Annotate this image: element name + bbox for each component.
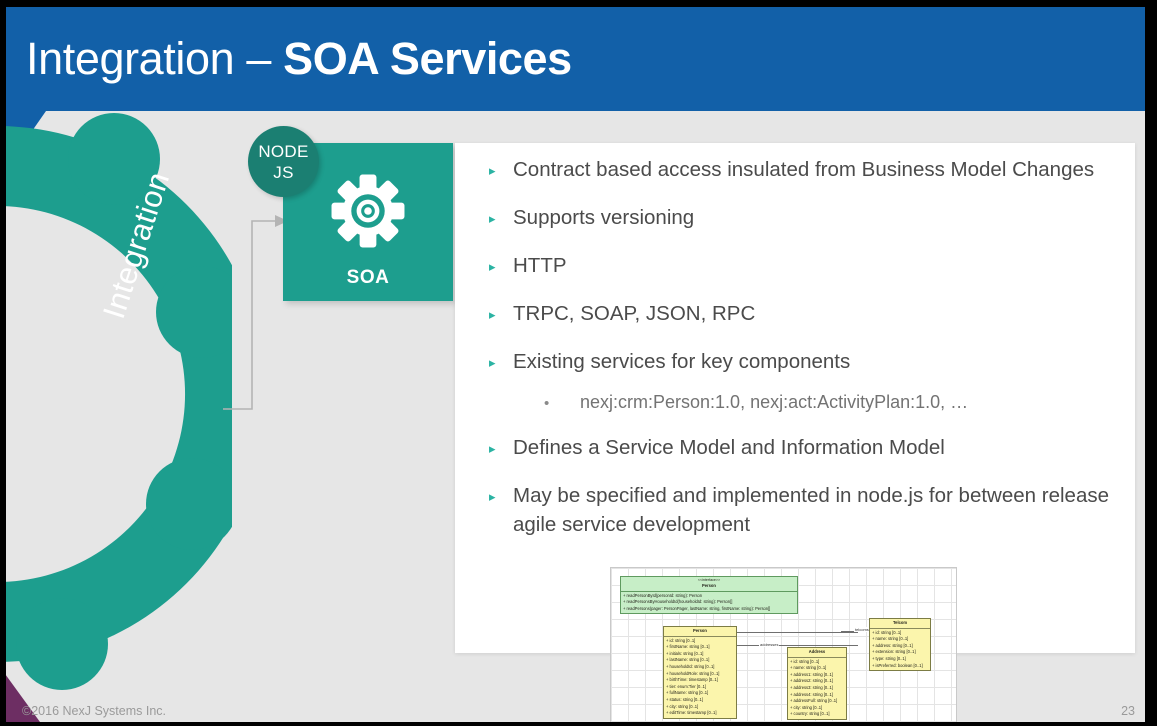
- uml-attribute: + address4: string [0..1]: [790, 692, 845, 699]
- uml-link-label-addresses: addresses: [759, 642, 779, 647]
- page-title-prefix: Integration –: [26, 33, 283, 84]
- uml-class-telcom: Telcom + id: string [0..1]+ name: string…: [869, 618, 931, 671]
- bullet-triangle-icon: ▸: [489, 299, 513, 329]
- integration-ring-graphic: [0, 84, 232, 704]
- uml-operation: + readPersonsByHouseholdId(householdId: …: [623, 599, 796, 606]
- uml-class-person: Person + id: string [0..1]+ firstName: s…: [663, 626, 737, 719]
- frame-left: [0, 0, 6, 726]
- corner-triangle-blue: [0, 111, 46, 177]
- uml-attribute: + address2: string [0..1]: [790, 678, 845, 685]
- node-js-badge[interactable]: NODE JS: [248, 126, 319, 197]
- bullet-text: TRPC, SOAP, JSON, RPC: [513, 299, 1109, 328]
- uml-attribute: + lastName: string [0..1]: [666, 657, 735, 664]
- uml-attribute: + city: string [0..1]: [790, 705, 845, 712]
- page-number: 23: [1121, 704, 1135, 718]
- uml-attribute: + addressFull: string [0..1]: [790, 698, 845, 705]
- soa-card-label: SOA: [283, 267, 453, 289]
- uml-interface-name: Person: [702, 583, 716, 588]
- bullet-text: Defines a Service Model and Information …: [513, 433, 1109, 462]
- uml-attribute: + initials: string [0..1]: [666, 651, 735, 658]
- uml-class-attributes: + id: string [0..1]+ name: string [0..1]…: [788, 658, 846, 719]
- bullet-text: nexj:crm:Person:1.0, nexj:act:ActivityPl…: [580, 389, 1109, 416]
- uml-operation: + readPersons(pager: PersonPager, lastNa…: [623, 606, 796, 613]
- uml-attribute: + householdId: string [0..1]: [666, 664, 735, 671]
- uml-attribute: + householdRole: string [0..1]: [666, 671, 735, 678]
- bullet-dot-icon: •: [544, 389, 580, 417]
- uml-attribute: + id: string [0..1]: [666, 638, 735, 645]
- uml-link-line: [736, 632, 858, 633]
- bullet-item: ▸Supports versioning: [489, 203, 1109, 233]
- uml-attribute: + status: string [0..1]: [666, 697, 735, 704]
- bullet-list: ▸Contract based access insulated from Bu…: [489, 155, 1109, 557]
- bullet-text: Existing services for key components: [513, 347, 1109, 376]
- bullet-item: ▸Contract based access insulated from Bu…: [489, 155, 1109, 185]
- uml-attribute: + city: string [0..1]: [666, 704, 735, 711]
- bullet-item: ▸Existing services for key components: [489, 347, 1109, 377]
- uml-operation: + readPersonById(personId: string): Pers…: [623, 593, 796, 600]
- uml-attribute: + isPreferred: boolean [0..1]: [872, 663, 929, 670]
- uml-interface-header: <<interface>> Person: [621, 577, 797, 591]
- uml-class-attributes: + id: string [0..1]+ name: string [0..1]…: [870, 629, 930, 671]
- bullet-item: ▸Defines a Service Model and Information…: [489, 433, 1109, 463]
- uml-attribute: + tier: enum:Tier [0..1]: [666, 684, 735, 691]
- ring-label: Integration: [96, 122, 192, 323]
- uml-attribute: + type: string [0..1]: [872, 656, 929, 663]
- bullet-triangle-icon: ▸: [489, 347, 513, 377]
- bullet-item: ▸HTTP: [489, 251, 1109, 281]
- uml-class-name: Telcom: [870, 619, 930, 628]
- uml-attribute: + id: string [0..1]: [872, 630, 929, 637]
- bullet-text: May be specified and implemented in node…: [513, 481, 1109, 539]
- uml-interface-person: <<interface>> Person + readPersonById(pe…: [620, 576, 798, 614]
- bullet-item: ▸May be specified and implemented in nod…: [489, 481, 1109, 539]
- uml-attribute: + id: string [0..1]: [790, 659, 845, 666]
- uml-attribute: + fullName: string [0..1]: [666, 690, 735, 697]
- frame-bottom: [0, 722, 1157, 726]
- page-title-emphasis: SOA Services: [283, 33, 572, 84]
- uml-class-attributes: + id: string [0..1]+ firstName: string […: [664, 637, 736, 718]
- title-bar: Integration – SOA Services: [6, 7, 1145, 111]
- bullet-triangle-icon: ▸: [489, 155, 513, 185]
- uml-link-line: [736, 645, 858, 646]
- uml-attribute: + firstName: string [0..1]: [666, 644, 735, 651]
- bullet-triangle-icon: ▸: [489, 251, 513, 281]
- slide-canvas: Integration: [0, 0, 1157, 726]
- bullet-text: HTTP: [513, 251, 1109, 280]
- frame-top: [0, 0, 1157, 7]
- footer-copyright: ©2016 NexJ Systems Inc.: [22, 704, 166, 718]
- uml-attribute: + country: string [0..1]: [790, 711, 845, 718]
- gear-icon: [330, 173, 406, 249]
- bullet-text: Supports versioning: [513, 203, 1109, 232]
- uml-attribute: + editTime: timestamp [0..1]: [666, 710, 735, 717]
- uml-class-name: Person: [664, 627, 736, 636]
- node-js-badge-line2: JS: [273, 162, 293, 183]
- uml-class-name: Address: [788, 648, 846, 657]
- bullet-text: Contract based access insulated from Bus…: [513, 155, 1109, 184]
- bullet-item: ▸TRPC, SOAP, JSON, RPC: [489, 299, 1109, 329]
- uml-class-address: Address + id: string [0..1]+ name: strin…: [787, 647, 847, 720]
- uml-link-label-telcoms: telcoms: [854, 627, 870, 632]
- uml-attribute: + name: string [0..1]: [790, 665, 845, 672]
- bullet-triangle-icon: ▸: [489, 433, 513, 463]
- uml-class-diagram: addresses telcoms <<interface>> Person +…: [610, 567, 957, 724]
- frame-right: [1145, 0, 1157, 726]
- uml-attribute: + birthTime: timestamp [0..1]: [666, 677, 735, 684]
- node-js-badge-line1: NODE: [258, 141, 308, 162]
- uml-attribute: + name: string [0..1]: [872, 636, 929, 643]
- page-title: Integration – SOA Services: [26, 31, 572, 87]
- bullet-triangle-icon: ▸: [489, 481, 513, 511]
- bullet-triangle-icon: ▸: [489, 203, 513, 233]
- bullet-item: •nexj:crm:Person:1.0, nexj:act:ActivityP…: [544, 389, 1109, 417]
- uml-attribute: + extension: string [0..1]: [872, 649, 929, 656]
- uml-attribute: + address1: string [0..1]: [790, 672, 845, 679]
- uml-attribute: + address: string [0..1]: [872, 643, 929, 650]
- uml-attribute: + address3: string [0..1]: [790, 685, 845, 692]
- uml-interface-operations: + readPersonById(personId: string): Pers…: [621, 592, 797, 614]
